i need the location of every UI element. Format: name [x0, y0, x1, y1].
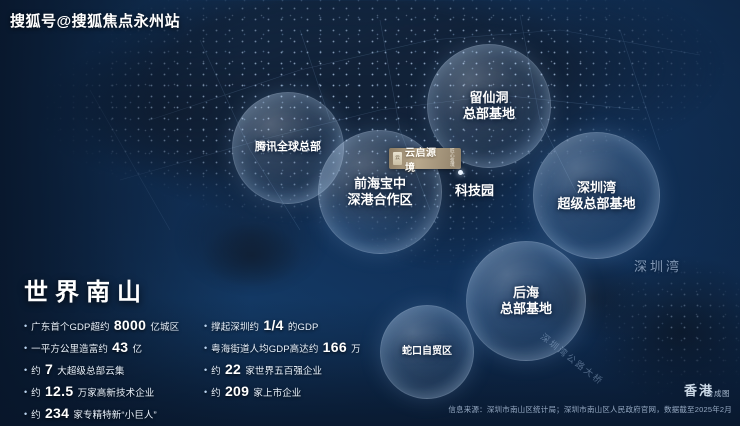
map-label-science-park[interactable]: 科技园: [455, 180, 494, 199]
stat-value: 12.5: [41, 383, 78, 399]
bubble-label: 蛇口自贸区: [396, 346, 458, 358]
bullet-icon: •: [24, 366, 27, 375]
stat-value: 22: [221, 361, 246, 377]
bubble-label: 深圳湾 超级总部基地: [551, 180, 641, 212]
stat-text: 约 209 家上市企业: [211, 383, 301, 401]
panel-title: 世界南山: [24, 272, 354, 307]
bubble-houhai-hq-base[interactable]: 后海 总部基地: [466, 241, 586, 361]
brand-badge-name: 云启源境: [405, 144, 445, 174]
map-infographic: 腾讯全球总部 留仙洞 总部基地 前海宝中 深港合作区 深圳湾 超级总部基地 后海…: [0, 0, 740, 426]
stat-text: 约 22 家世界五百强企业: [211, 361, 322, 379]
bullet-icon: •: [204, 388, 207, 397]
source-note: 信息来源：深圳市南山区统计局；深圳市南山区人民政府官网，数据截至2025年2月: [448, 404, 732, 415]
stat-row: •粤海街道人均GDP高达约 166 万: [204, 339, 354, 357]
bullet-icon: •: [204, 322, 207, 331]
brand-badge[interactable]: 云 云启源境 匠心 筑境: [389, 148, 461, 169]
stat-row: •一平方公里造富约 43 亿: [24, 339, 196, 357]
composite-image-note: 合成图: [706, 388, 730, 399]
watermark-text: 搜狐号@搜狐焦点永州站: [10, 10, 180, 31]
map-label-shenzhen-bay-water: 深圳湾: [634, 256, 682, 275]
bullet-icon: •: [24, 410, 27, 419]
stat-text: 广东首个GDP超约 8000 亿城区: [31, 317, 179, 335]
bubble-shenzhen-bay-super-hq-base[interactable]: 深圳湾 超级总部基地: [533, 132, 660, 259]
bullet-icon: •: [24, 388, 27, 397]
info-panel: 世界南山 •广东首个GDP超约 8000 亿城区•一平方公里造富约 43 亿•约…: [24, 272, 354, 423]
science-park-marker-dot: [458, 170, 463, 175]
stat-row: •撑起深圳约 1/4 的GDP: [204, 317, 354, 335]
bubble-label: 腾讯全球总部: [249, 141, 327, 154]
stat-text: 约 234 家专精特新“小巨人”: [31, 405, 157, 423]
stat-row: •广东首个GDP超约 8000 亿城区: [24, 317, 196, 335]
stat-row: •约 7 大超级总部云集: [24, 361, 196, 379]
bubble-label: 前海宝中 深港合作区: [341, 176, 418, 208]
stat-text: 约 12.5 万家高新技术企业: [31, 383, 154, 401]
stat-value: 8000: [110, 317, 151, 333]
stat-value: 7: [41, 361, 57, 377]
stats-columns: •广东首个GDP超约 8000 亿城区•一平方公里造富约 43 亿•约 7 大超…: [24, 317, 354, 423]
stats-column-left: •广东首个GDP超约 8000 亿城区•一平方公里造富约 43 亿•约 7 大超…: [24, 317, 196, 423]
stat-text: 约 7 大超级总部云集: [31, 361, 124, 379]
brand-badge-subtitle: 匠心 筑境: [448, 149, 457, 169]
bubble-label: 后海 总部基地: [494, 285, 558, 317]
bullet-icon: •: [24, 322, 27, 331]
stat-row: •约 22 家世界五百强企业: [204, 361, 354, 379]
stat-value: 166: [318, 339, 351, 355]
stat-value: 209: [221, 383, 254, 399]
stat-row: •约 234 家专精特新“小巨人”: [24, 405, 196, 423]
bubble-label: 留仙洞 总部基地: [457, 90, 521, 122]
bullet-icon: •: [204, 344, 207, 353]
stat-value: 1/4: [259, 317, 288, 333]
stat-row: •约 12.5 万家高新技术企业: [24, 383, 196, 401]
stat-value: 43: [108, 339, 133, 355]
stats-column-right: •撑起深圳约 1/4 的GDP•粤海街道人均GDP高达约 166 万•约 22 …: [204, 317, 354, 423]
stat-row: •约 209 家上市企业: [204, 383, 354, 401]
brand-mark-icon: 云: [393, 152, 402, 165]
stat-value: 234: [41, 405, 74, 421]
stat-text: 粤海街道人均GDP高达约 166 万: [211, 339, 361, 357]
stat-text: 一平方公里造富约 43 亿: [31, 339, 142, 357]
bubble-shekou-free-trade-zone[interactable]: 蛇口自贸区: [380, 305, 474, 399]
stat-text: 撑起深圳约 1/4 的GDP: [211, 317, 318, 335]
bullet-icon: •: [24, 344, 27, 353]
bullet-icon: •: [204, 366, 207, 375]
